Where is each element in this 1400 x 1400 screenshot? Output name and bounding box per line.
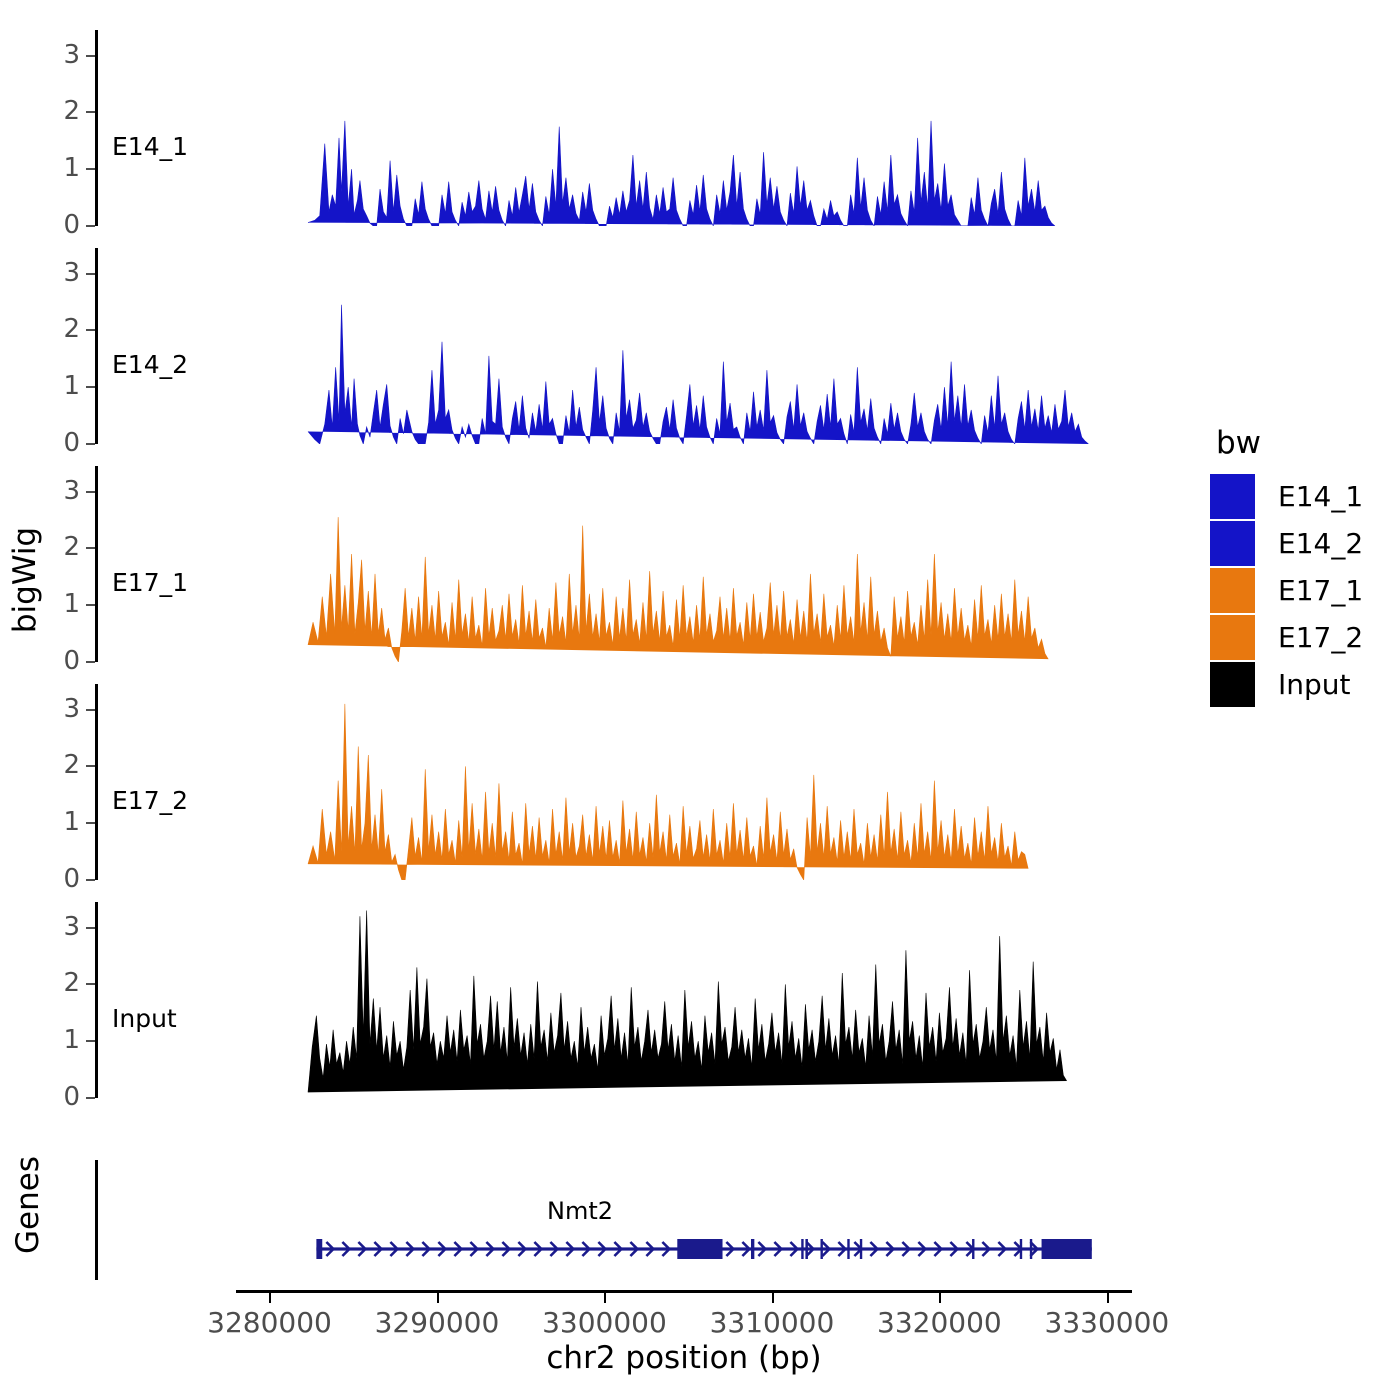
x-tick — [1107, 1293, 1109, 1303]
track-strip-label-e14_1: E14_1 — [112, 134, 188, 159]
y-tick — [86, 709, 95, 711]
area-path-e14_2 — [308, 305, 1088, 444]
y-tick — [86, 547, 95, 549]
legend-item-e14_2[interactable]: E14_2 — [1210, 520, 1400, 567]
y-tick-label: 3 — [50, 260, 80, 286]
y-tick — [86, 386, 95, 388]
y-tick — [86, 1097, 95, 1099]
y-tick-label: 2 — [50, 316, 80, 342]
legend-swatch-icon — [1210, 474, 1255, 519]
y-axis-line — [95, 684, 98, 880]
legend-swatch-icon — [1210, 568, 1255, 613]
track-strip-label-e14_2: E14_2 — [112, 352, 188, 377]
y-tick — [86, 927, 95, 929]
gene-exon[interactable] — [751, 1239, 754, 1259]
y-tick-label: 2 — [50, 752, 80, 778]
track-strip-label-input: Input — [112, 1006, 177, 1031]
gene-exon[interactable] — [972, 1239, 974, 1259]
y-tick-label: 0 — [50, 1084, 80, 1110]
legend-swatch-icon — [1210, 662, 1255, 707]
y-tick — [86, 55, 95, 57]
track-panel-e17_2: 0123E17_2 — [0, 684, 1200, 880]
y-tick-label: 0 — [50, 866, 80, 892]
y-tick — [86, 822, 95, 824]
gene-model-track[interactable] — [236, 1225, 1132, 1273]
y-tick-label: 1 — [50, 155, 80, 181]
track-panel-e14_1: 0123E14_1 — [0, 30, 1200, 226]
y-tick-label: 0 — [50, 648, 80, 674]
track-panel-e14_2: 0123E14_2 — [0, 248, 1200, 444]
y-axis-line — [95, 466, 98, 662]
gene-exon[interactable] — [860, 1239, 862, 1259]
x-axis-line — [236, 1290, 1132, 1293]
area-path-e17_2 — [308, 704, 1028, 880]
x-tick — [437, 1293, 439, 1303]
gene-exon[interactable] — [805, 1239, 808, 1259]
track-strip-label-e17_2: E17_2 — [112, 788, 188, 813]
gene-exon[interactable] — [847, 1239, 849, 1259]
y-tick-label: 3 — [50, 42, 80, 68]
y-tick-label: 3 — [50, 914, 80, 940]
gene-label: Nmt2 — [0, 1197, 1160, 1225]
y-tick-label: 1 — [50, 373, 80, 399]
legend-item-label: E17_2 — [1278, 624, 1363, 652]
track-plot-input — [236, 902, 1132, 1098]
track-plot-e17_2 — [236, 684, 1132, 880]
y-tick — [86, 765, 95, 767]
x-tick-label: 3330000 — [997, 1306, 1217, 1339]
track-strip-label-e17_1: E17_1 — [112, 570, 188, 595]
track-panel-input: 0123Input — [0, 902, 1200, 1098]
y-tick — [86, 1040, 95, 1042]
x-axis: 3280000329000033000003310000332000033300… — [236, 1290, 1132, 1291]
legend-items: E14_1E14_2E17_1E17_2Input — [1210, 473, 1400, 708]
legend-item-label: E14_1 — [1278, 483, 1363, 511]
y-axis-line — [95, 248, 98, 444]
y-tick — [86, 661, 95, 663]
y-tick — [86, 225, 95, 227]
legend-swatch-icon — [1210, 615, 1255, 660]
legend-item-e17_2[interactable]: E17_2 — [1210, 614, 1400, 661]
track-plot-e14_2 — [236, 248, 1132, 444]
y-tick — [86, 491, 95, 493]
y-tick — [86, 111, 95, 113]
legend-item-label: Input — [1278, 671, 1351, 699]
x-tick — [772, 1293, 774, 1303]
gene-exon[interactable] — [1042, 1239, 1092, 1259]
y-tick — [86, 983, 95, 985]
y-tick-label: 2 — [50, 98, 80, 124]
x-tick — [939, 1293, 941, 1303]
y-tick-label: 0 — [50, 430, 80, 456]
y-tick-label: 0 — [50, 212, 80, 238]
y-tick-label: 1 — [50, 591, 80, 617]
legend-item-label: E17_1 — [1278, 577, 1363, 605]
x-tick — [269, 1293, 271, 1303]
legend-swatch-icon — [1210, 521, 1255, 566]
track-plot-e17_1 — [236, 466, 1132, 662]
y-tick — [86, 879, 95, 881]
legend-title: bw — [1216, 428, 1400, 459]
y-tick — [86, 604, 95, 606]
y-tick-label: 2 — [50, 534, 80, 560]
legend: bw E14_1E14_2E17_1E17_2Input — [1210, 428, 1400, 708]
y-tick-label: 1 — [50, 809, 80, 835]
gene-exon[interactable] — [316, 1239, 322, 1259]
track-panel-e17_1: 0123E17_1 — [0, 466, 1200, 662]
y-tick-label: 3 — [50, 696, 80, 722]
gene-exon[interactable] — [677, 1239, 722, 1259]
area-path-e17_1 — [308, 517, 1048, 662]
y-tick-label: 3 — [50, 478, 80, 504]
gene-exon[interactable] — [1020, 1239, 1022, 1259]
gene-exon[interactable] — [801, 1239, 803, 1259]
gene-exon[interactable] — [1030, 1239, 1032, 1259]
y-tick — [86, 329, 95, 331]
x-tick — [604, 1293, 606, 1303]
y-axis-line — [95, 30, 98, 226]
legend-item-input[interactable]: Input — [1210, 661, 1400, 708]
area-path-input — [308, 911, 1067, 1093]
y-tick — [86, 273, 95, 275]
gene-exon[interactable] — [820, 1239, 822, 1259]
legend-item-e14_1[interactable]: E14_1 — [1210, 473, 1400, 520]
y-axis-line — [95, 902, 98, 1098]
y-tick-label: 1 — [50, 1027, 80, 1053]
track-plot-e14_1 — [236, 30, 1132, 226]
legend-item-e17_1[interactable]: E17_1 — [1210, 567, 1400, 614]
legend-item-label: E14_2 — [1278, 530, 1363, 558]
x-axis-title: chr2 position (bp) — [236, 1340, 1132, 1376]
y-tick — [86, 168, 95, 170]
y-tick — [86, 443, 95, 445]
area-path-e14_1 — [308, 121, 1055, 226]
y-tick-label: 2 — [50, 970, 80, 996]
